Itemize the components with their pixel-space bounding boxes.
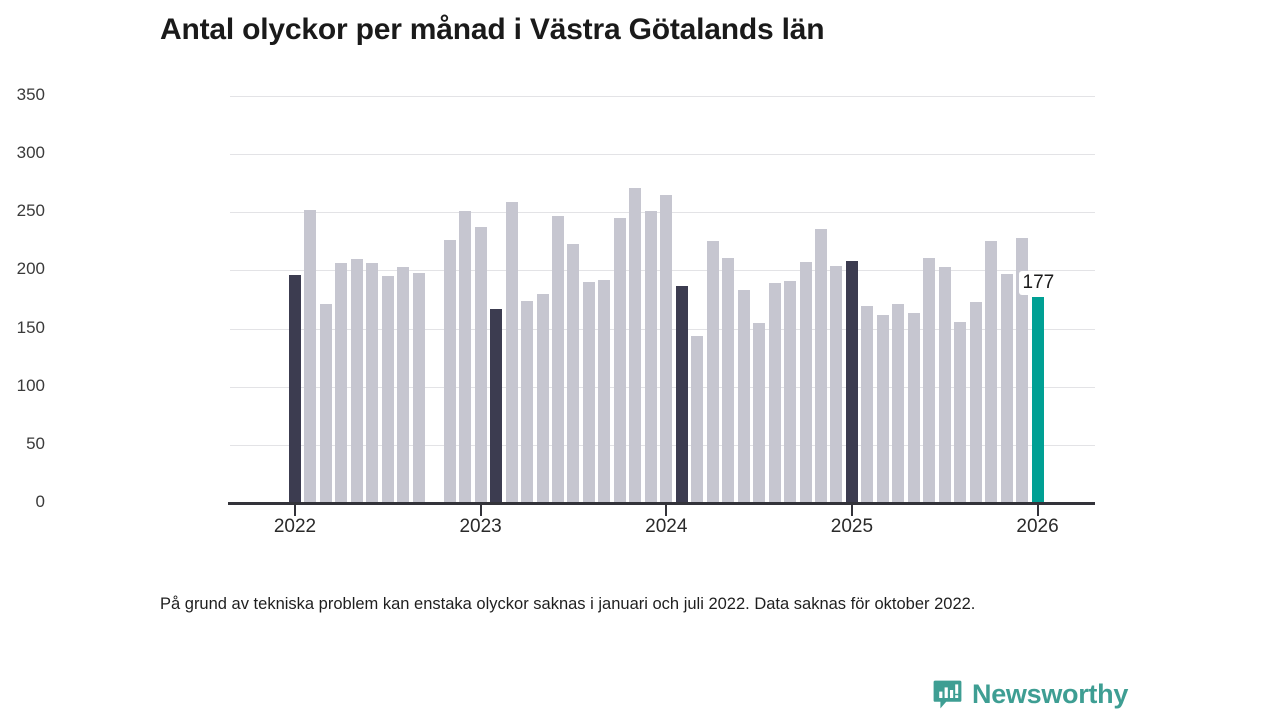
x-axis-tick-label: 2025 xyxy=(807,516,897,538)
x-axis-tick-mark xyxy=(851,505,853,516)
x-axis-tick-label: 2024 xyxy=(621,516,711,538)
chart-page: Antal olyckor per månad i Västra Götalan… xyxy=(0,0,1280,720)
x-axis-tick-label: 2023 xyxy=(436,516,526,538)
x-axis-tick-mark xyxy=(665,505,667,516)
x-axis-tick-mark xyxy=(294,505,296,516)
x-axis-ticks: 20222023202420252026 xyxy=(0,0,1280,560)
chart-plot-wrapper: 050100150200250300350 177 20222023202420… xyxy=(0,0,1280,560)
bar-chart-speech-bubble-icon xyxy=(932,679,963,710)
x-axis-tick-mark xyxy=(480,505,482,516)
x-axis-tick-label: 2022 xyxy=(250,516,340,538)
x-axis-tick-label: 2026 xyxy=(993,516,1083,538)
newsworthy-logo: Newsworthy xyxy=(932,679,1128,710)
logo-text: Newsworthy xyxy=(972,679,1128,710)
chart-footnote: På grund av tekniska problem kan enstaka… xyxy=(160,592,1075,616)
x-axis-tick-mark xyxy=(1037,505,1039,516)
